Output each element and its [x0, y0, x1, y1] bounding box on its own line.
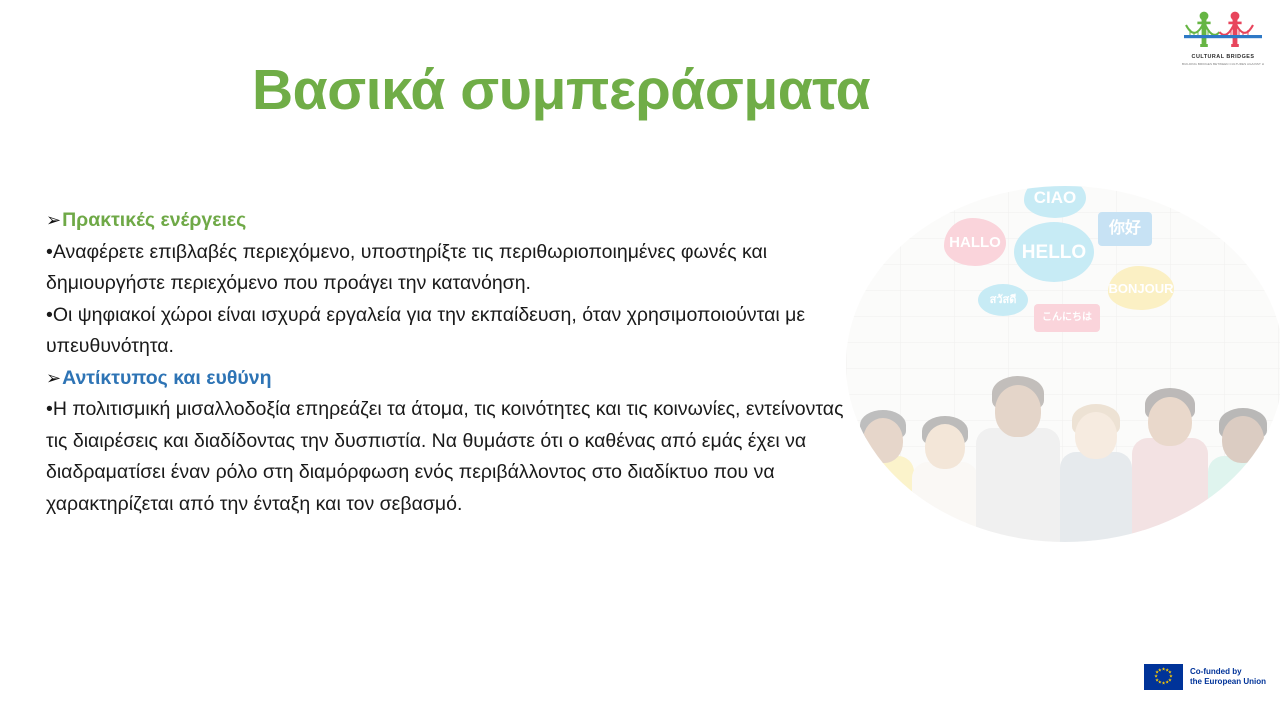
eu-funding-line-2: the European Union	[1190, 677, 1266, 688]
person-head	[1222, 416, 1264, 463]
person-torso	[1208, 456, 1278, 542]
eu-funding-text: Co-funded by the European Union	[1190, 667, 1266, 688]
section-heading-label: Αντίκτυπος και ευθύνη	[62, 367, 271, 389]
person-torso	[852, 456, 914, 542]
person-woman-3	[1208, 408, 1278, 542]
arrow-bullet-icon: ➢	[46, 368, 62, 388]
person-head	[863, 418, 903, 463]
person-head	[1075, 412, 1117, 459]
paragraph: •Η πολιτισμική μισαλλοδοξία επηρεάζει τα…	[46, 394, 846, 520]
speech-bubble: สวัสดี	[978, 284, 1028, 316]
person-torso	[1132, 438, 1208, 542]
content-body: ➢Πρακτικές ενέργειες •Αναφέρετε επιβλαβέ…	[46, 205, 846, 520]
slide-canvas: Βασικά συμπεράσματα ➢Πρακτικές ενέργειες…	[0, 0, 1280, 720]
section-heading-practical-actions: ➢Πρακτικές ενέργειες	[46, 205, 846, 237]
person-woman-1	[912, 416, 978, 542]
person-woman-2	[1060, 404, 1132, 542]
section-heading-label: Πρακτικές ενέργειες	[62, 209, 246, 231]
bridge-icon	[1182, 8, 1264, 54]
paragraph: •Οι ψηφιακοί χώροι είναι ισχυρά εργαλεία…	[46, 300, 846, 363]
person-plaid	[976, 376, 1060, 542]
speech-bubble: HALLO	[944, 218, 1006, 266]
paragraph: •Αναφέρετε επιβλαβές περιεχόμενο, υποστη…	[46, 237, 846, 300]
page-title: Βασικά συμπεράσματα	[252, 60, 1052, 122]
speech-bubble: BONJOUR	[1108, 266, 1174, 310]
people-group	[846, 348, 1280, 542]
diverse-people-multilingual-greetings-photo: CIAOHALLOHELLO你好สวัสดีこんにちはBONJOUR	[846, 186, 1280, 542]
person-torso	[1060, 452, 1132, 542]
speech-bubble: HELLO	[1014, 222, 1094, 282]
eu-star-icon: ★	[1165, 681, 1169, 686]
eu-funding-line-1: Co-funded by	[1190, 667, 1266, 678]
arrow-bullet-icon: ➢	[46, 210, 62, 230]
speech-bubble: 你好	[1098, 212, 1152, 246]
person-head	[925, 424, 965, 469]
person-torso	[912, 462, 978, 542]
section-heading-impact-responsibility: ➢Αντίκτυπος και ευθύνη	[46, 363, 846, 395]
cultural-bridges-logo: CULTURAL BRIDGES BUILDING BRIDGES BETWEE…	[1182, 8, 1264, 70]
person-head	[1148, 397, 1192, 446]
cultural-bridges-subcaption: BUILDING BRIDGES BETWEEN CULTURES AGAINS…	[1182, 62, 1264, 66]
person-glasses	[1132, 388, 1208, 542]
eu-flag-icon: ★★★★★★★★★★★★	[1144, 664, 1183, 690]
person-head	[995, 385, 1041, 437]
speech-bubble: こんにちは	[1034, 304, 1100, 332]
person-turban	[852, 410, 914, 542]
eu-star-icon: ★	[1161, 682, 1165, 687]
cultural-bridges-caption: CULTURAL BRIDGES	[1182, 54, 1264, 60]
eu-star-icon: ★	[1158, 668, 1162, 673]
person-torso	[976, 428, 1060, 542]
eu-co-funding-logo: ★★★★★★★★★★★★ Co-funded by the European U…	[1144, 664, 1266, 690]
